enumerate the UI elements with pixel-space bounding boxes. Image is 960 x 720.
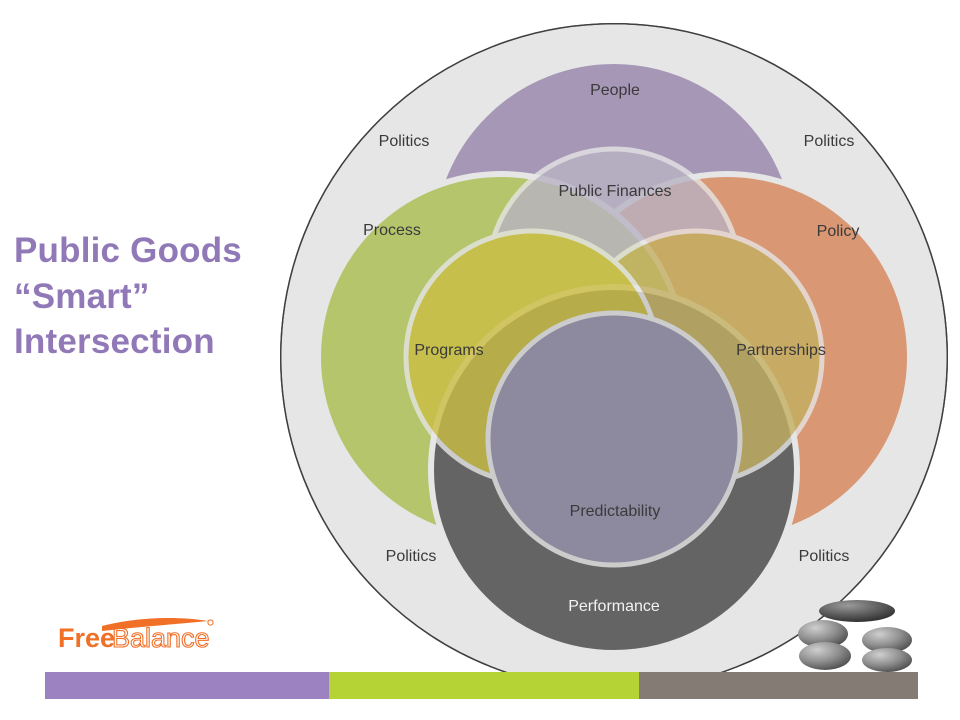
stone-top — [819, 600, 895, 622]
footer-segment-green — [329, 672, 639, 699]
title-line-1: Public Goods — [14, 228, 299, 274]
circle-predictability — [488, 313, 740, 565]
title-line-3: Intersection — [14, 319, 299, 365]
stone-right-lower — [862, 648, 912, 672]
slide-canvas: Public Goods “Smart” Intersection — [0, 0, 960, 720]
title-line-2: “Smart” — [14, 274, 299, 320]
venn-diagram — [278, 24, 950, 696]
footer-color-bar — [45, 672, 918, 699]
zen-stones-image — [795, 598, 915, 676]
freebalance-logo: Free Balance — [58, 614, 218, 652]
footer-segment-gray — [639, 672, 918, 699]
stone-left-lower — [799, 642, 851, 670]
logo-text-free: Free — [58, 623, 115, 652]
footer-segment-purple — [45, 672, 329, 699]
page-title: Public Goods “Smart” Intersection — [14, 228, 299, 365]
logo-text-balance: Balance — [112, 623, 210, 652]
